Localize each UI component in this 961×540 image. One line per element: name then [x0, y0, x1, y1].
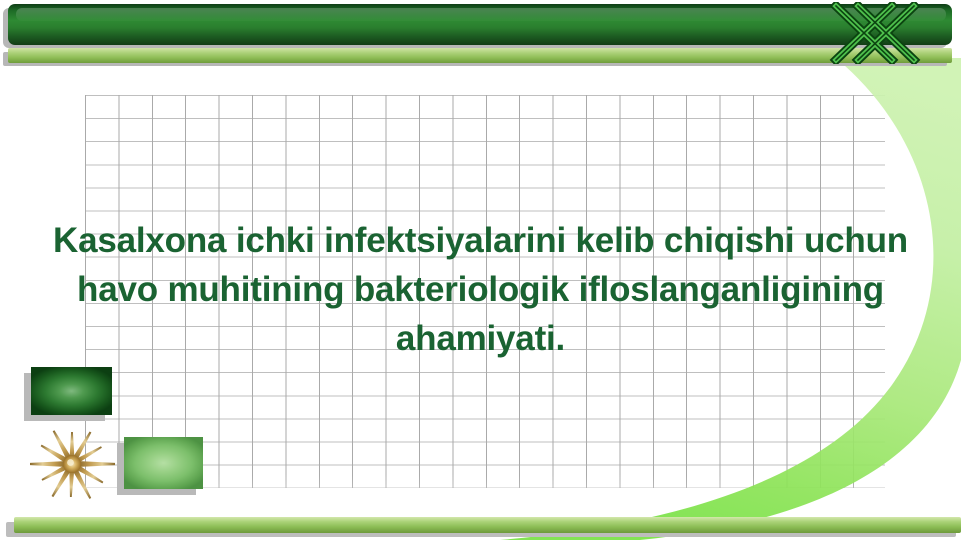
slide-title: Kasalxona ichki infektsiyalarini kelib c… [40, 216, 921, 363]
dark-green-box [31, 367, 112, 415]
slide-canvas: Kasalxona ichki infektsiyalarini kelib c… [0, 0, 961, 540]
header-dark-bar-gloss [16, 8, 946, 21]
header-light-bar [8, 48, 952, 63]
footer-light-bar [14, 517, 961, 533]
interlaced-knot-emblem [818, 2, 946, 64]
light-green-box [124, 437, 203, 489]
gold-starburst [28, 424, 116, 504]
header-dark-bar [8, 4, 952, 45]
